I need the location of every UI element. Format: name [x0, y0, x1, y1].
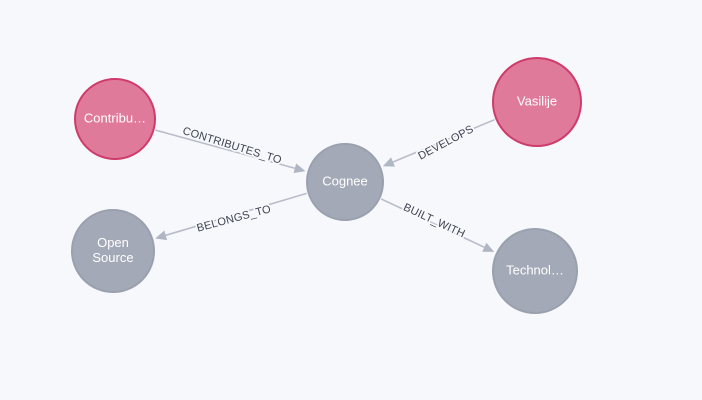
node-circle-technology[interactable]: [493, 229, 577, 313]
node-circle-contributor[interactable]: [75, 79, 155, 159]
graph-node-contributor[interactable]: Contribu…: [75, 79, 155, 159]
node-circle-vasilije[interactable]: [493, 58, 581, 146]
graph-canvas[interactable]: Contribu…VasilijeCogneeOpenSourceTechnol…: [0, 0, 702, 400]
graph-node-vasilije[interactable]: Vasilije: [493, 58, 581, 146]
graph-node-open-source[interactable]: OpenSource: [72, 210, 154, 292]
node-circle-cognee[interactable]: [307, 144, 383, 220]
graph-node-cognee[interactable]: Cognee: [307, 144, 383, 220]
graph-node-technology[interactable]: Technol…: [493, 229, 577, 313]
node-circle-open-source[interactable]: [72, 210, 154, 292]
